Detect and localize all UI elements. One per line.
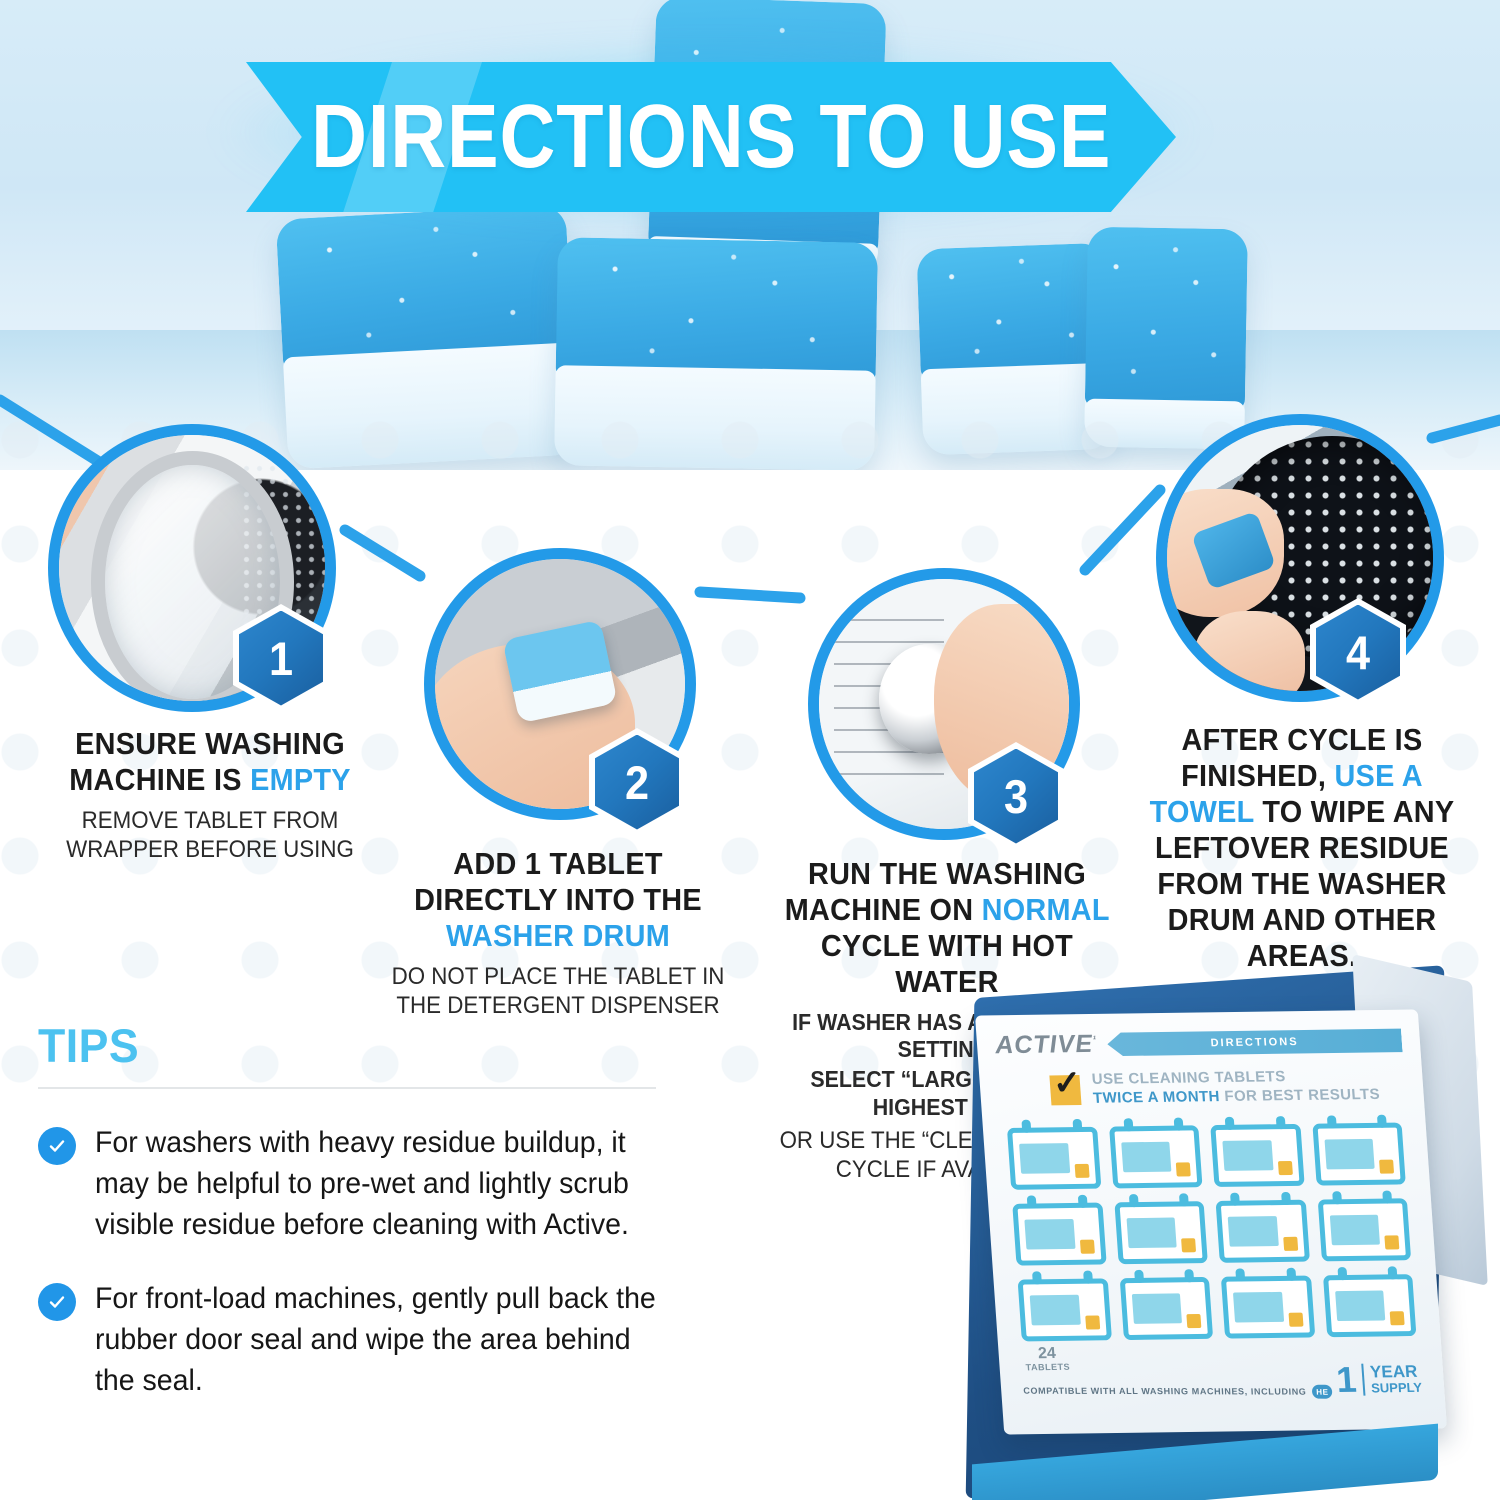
check-circle-icon	[38, 1127, 76, 1165]
card-header: ACTIVE¹ DIRECTIONS	[994, 1026, 1403, 1061]
step-1-number: 1	[269, 635, 293, 682]
calendar-icon	[1221, 1275, 1315, 1338]
supply-word-label: SUPPLY	[1371, 1381, 1423, 1395]
step-1-heading-highlight: EMPTY	[250, 762, 351, 797]
page-title: DIRECTIONS TO USE	[311, 86, 1111, 189]
usage-note-highlight: TWICE A MONTH	[1092, 1088, 1220, 1107]
compatibility-note: COMPATIBLE WITH ALL WASHING MACHINES, IN…	[1023, 1384, 1333, 1399]
tablet-count-number: 24	[1024, 1346, 1070, 1363]
calendar-icon	[1109, 1125, 1203, 1188]
checkbox-icon	[1049, 1075, 1081, 1105]
calendar-icon	[1210, 1123, 1304, 1186]
he-logo-icon: HE	[1312, 1385, 1333, 1399]
step-4-text: AFTER CYCLE IS FINISHED, USE A TOWEL TO …	[1118, 722, 1486, 974]
active-logo-text: ACTIVE	[994, 1030, 1094, 1059]
step-1-subtext: REMOVE TABLET FROM WRAPPER BEFORE USING	[52, 807, 368, 865]
calendar-icon	[1322, 1274, 1416, 1337]
check-circle-icon	[38, 1283, 76, 1321]
step-1-text: ENSURE WASHING MACHINE IS EMPTY REMOVE T…	[40, 726, 380, 865]
step-4-number: 4	[1346, 629, 1370, 676]
supply-number: 1	[1335, 1363, 1357, 1396]
step-3-heading-highlight: NORMAL	[982, 892, 1110, 927]
usage-note: USE CLEANING TABLETS TWICE A MONTH FOR B…	[997, 1067, 1406, 1110]
calendar-icon	[1007, 1126, 1101, 1189]
compatibility-text: COMPATIBLE WITH ALL WASHING MACHINES, IN…	[1023, 1386, 1307, 1397]
tips-title: TIPS	[38, 1018, 665, 1073]
card-footer: COMPATIBLE WITH ALL WASHING MACHINES, IN…	[1000, 1362, 1445, 1400]
step-2-heading-pre: ADD 1 TABLET DIRECTLY INTO THE	[414, 846, 702, 917]
calendar-icon	[1216, 1199, 1310, 1262]
tip-item: For washers with heavy residue buildup, …	[38, 1123, 698, 1245]
step-1-heading: ENSURE WASHING MACHINE IS EMPTY	[52, 726, 368, 798]
step-2-number: 2	[625, 759, 649, 806]
supply-year-label: YEAR	[1369, 1363, 1421, 1382]
active-logo: ACTIVE¹	[994, 1030, 1098, 1060]
infographic-page: DIRECTIONS TO USE 1 ENSURE WASHING MACHI…	[0, 0, 1500, 1500]
tip-item: For front-load machines, gently pull bac…	[38, 1279, 698, 1401]
step-2-heading: ADD 1 TABLET DIRECTLY INTO THE WASHER DR…	[391, 846, 726, 954]
step-4-heading: AFTER CYCLE IS FINISHED, USE A TOWEL TO …	[1131, 722, 1473, 974]
tips-divider	[38, 1087, 656, 1089]
calendar-icon	[1119, 1276, 1213, 1339]
second-hand-shape	[1194, 611, 1306, 702]
calendar-icon	[1312, 1122, 1406, 1185]
product-box-photo: ACTIVE¹ DIRECTIONS USE CLEANING TABLETS …	[930, 960, 1500, 1500]
active-logo-mark: ¹	[1092, 1035, 1097, 1046]
tip-text: For front-load machines, gently pull bac…	[95, 1279, 668, 1401]
step-2-heading-highlight: WASHER DRUM	[446, 918, 670, 953]
usage-note-line2-dim: FOR BEST RESULTS	[1219, 1086, 1380, 1105]
calendar-grid	[1001, 1122, 1423, 1341]
header-ribbon: DIRECTIONS TO USE	[246, 62, 1176, 212]
usage-note-text: USE CLEANING TABLETS TWICE A MONTH FOR B…	[1091, 1067, 1380, 1108]
step-2-text: ADD 1 TABLET DIRECTLY INTO THE WASHER DR…	[378, 846, 738, 1020]
calendar-icon	[1012, 1202, 1106, 1265]
calendar-icon	[1018, 1278, 1112, 1341]
supply-badge: 1 YEAR SUPPLY	[1335, 1362, 1422, 1395]
tips-section: TIPS For washers with heavy residue buil…	[38, 1018, 698, 1402]
calendar-icon	[1317, 1198, 1411, 1261]
directions-label: DIRECTIONS	[1210, 1036, 1299, 1049]
directions-banner: DIRECTIONS	[1107, 1028, 1403, 1056]
directions-card: ACTIVE¹ DIRECTIONS USE CLEANING TABLETS …	[975, 1009, 1447, 1434]
calendar-icon	[1114, 1201, 1208, 1264]
step-3-number: 3	[1004, 773, 1028, 820]
step-2-subtext: DO NOT PLACE THE TABLET IN THE DETERGENT…	[391, 963, 726, 1021]
tip-text: For washers with heavy residue buildup, …	[95, 1123, 668, 1245]
